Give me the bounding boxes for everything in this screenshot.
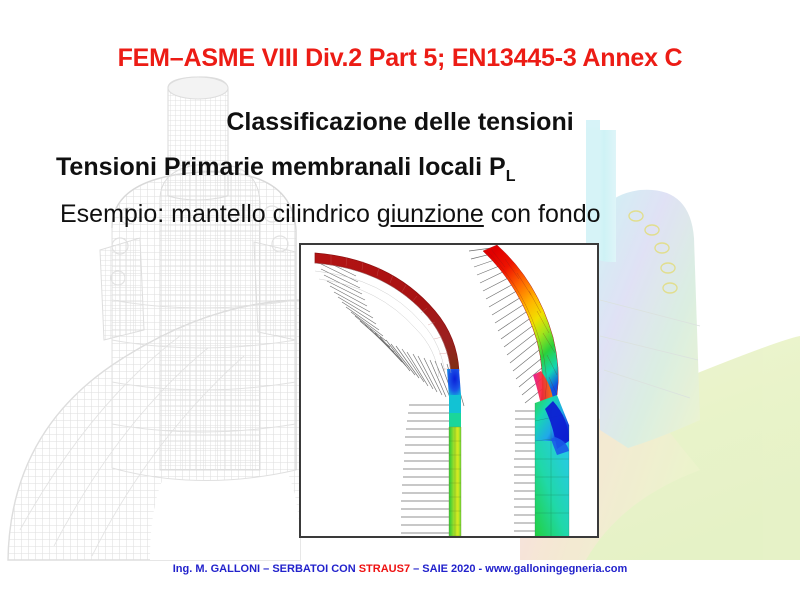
line2-text: Tensioni Primarie membranali locali P bbox=[56, 153, 506, 181]
fea-figure-inset bbox=[299, 243, 599, 538]
bg-wireframe-vessel bbox=[8, 77, 300, 560]
footer-highlight-straus7: STRAUS7 bbox=[359, 563, 410, 575]
subscript-L: L bbox=[506, 168, 516, 185]
footer-credit: Ing. M. GALLONI – SERBATOI CON STRAUS7 –… bbox=[0, 563, 800, 575]
example-line: Esempio: mantello cilindrico giunzione c… bbox=[60, 200, 800, 229]
heading-primary-local-membrane: Tensioni Primarie membranali locali PL bbox=[56, 153, 796, 182]
fea-figure-svg bbox=[301, 245, 597, 536]
example-text-before: Esempio: mantello cilindrico bbox=[60, 200, 377, 228]
heading-classification: Classificazione delle tensioni bbox=[0, 108, 800, 137]
slide-canvas: FEM–ASME VIII Div.2 Part 5; EN13445-3 An… bbox=[0, 0, 800, 600]
footer-segment-2: – SAIE 2020 - www.galloningegneria.com bbox=[410, 563, 627, 575]
slide-title: FEM–ASME VIII Div.2 Part 5; EN13445-3 An… bbox=[0, 44, 800, 73]
example-text-after: con fondo bbox=[484, 200, 601, 228]
left-junction-contour bbox=[447, 369, 461, 397]
example-underlined-word: giunzione bbox=[377, 200, 484, 228]
right-shell-block bbox=[535, 441, 569, 536]
footer-segment-1: Ing. M. GALLONI – SERBATOI CON bbox=[173, 563, 359, 575]
